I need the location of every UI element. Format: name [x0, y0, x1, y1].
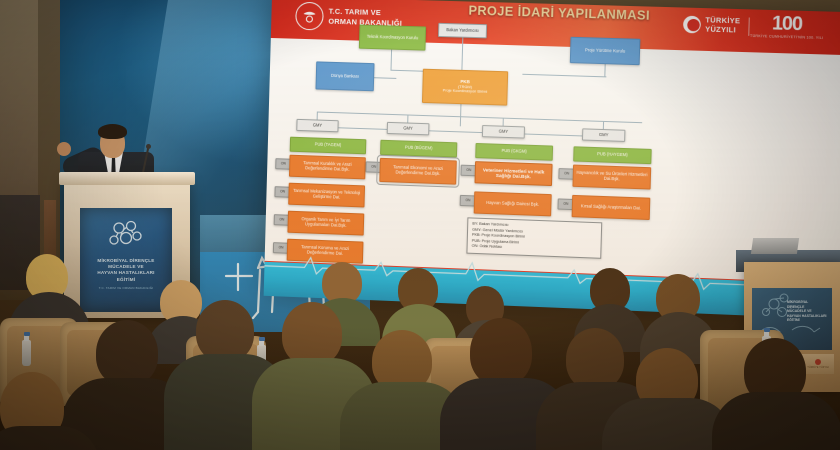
- node-c1-1[interactable]: Tarımsal Kuraklık ve Arazi Değerlendirme…: [289, 155, 366, 180]
- node-c1-2[interactable]: Tarımsal Mekanizasyon ve Teknoloji Geliş…: [288, 183, 365, 208]
- node-gmy-1[interactable]: GMY: [296, 119, 338, 132]
- node-c4-2[interactable]: Kırsal Sağlığı Araştırmaları Dai.: [572, 195, 651, 220]
- node-gmy-2[interactable]: GMY: [387, 122, 430, 135]
- podium-banner-subtitle: T.C. TARIM VE ORMAN BAKANLIĞI: [84, 286, 168, 290]
- water-bottle: [22, 340, 31, 366]
- podium-title-line-4: EĞİTİMİ: [84, 277, 168, 283]
- node-pub-3[interactable]: PUB (GKGM): [475, 143, 553, 161]
- node-pkb[interactable]: PKB (TRGM) Proje Koordinasyon Birimi: [422, 69, 508, 106]
- speaker-hair: [98, 124, 127, 139]
- yuzyili-line: YÜZYILI: [705, 25, 740, 35]
- node-c3-1-veterinary[interactable]: Veteriner Hizmetleri ve Halk Sağlığı Dai…: [474, 161, 552, 186]
- audience-head: [196, 300, 254, 362]
- right-footer-right-text: TÜRKİYE YÜZYILI: [807, 366, 829, 369]
- podium-banner-title: MİKROBİYAL DİRENÇLE MÜCADELE VE HAYVAN H…: [84, 258, 168, 283]
- node-c3-2[interactable]: Hayvan Sağlığı Dairesi Bşk.: [474, 191, 552, 216]
- legend-box: BY: Bakan Yardımcısı GMY: Genel Müdür Ya…: [466, 217, 602, 258]
- node-gmy-4[interactable]: GMY: [582, 128, 625, 142]
- node-steering-committee[interactable]: Teknik Koordinasyon Kurulu: [359, 25, 426, 51]
- node-world-bank[interactable]: Dünya Bankası: [315, 61, 374, 91]
- connector: [421, 130, 488, 133]
- right-banner-text: MİKROBİYAL DİRENÇLE MÜCADELE VE HAYVAN H…: [787, 300, 829, 323]
- node-gmy-3[interactable]: GMY: [482, 125, 525, 139]
- connector: [317, 112, 642, 124]
- right-banner-line-5: EĞİTİMİ: [787, 318, 829, 323]
- turkiye-yuzyili-logo: TÜRKİYE YÜZYILI: [683, 16, 740, 35]
- molecule-icon: [105, 218, 147, 252]
- podium-top: [59, 172, 195, 185]
- centenary-subtitle: TÜRKİYE CUMHURİYETİ'NİN 100. YILI: [750, 34, 823, 40]
- node-pkb-line3: Proje Koordinasyon Birimi: [443, 89, 487, 95]
- node-pub-1[interactable]: PUB (TAGEM): [290, 137, 367, 155]
- node-c1-3[interactable]: Organik Tarım ve İyi Tarım Uygulamaları …: [287, 211, 364, 236]
- crescent-icon: [815, 359, 821, 365]
- node-pub-2[interactable]: PUB (BÜGEM): [380, 140, 457, 158]
- audience-head: [96, 320, 158, 386]
- node-c4-1[interactable]: Hayvancılık ve Su Ürünleri Hizmetleri Da…: [572, 165, 651, 190]
- node-c2-1[interactable]: Tarımsal Ekonomi ve Arazi Değerlendirme …: [379, 158, 457, 185]
- node-project-steering[interactable]: Proje Yürütme Kurulu: [570, 37, 641, 65]
- microphone-icon: [146, 144, 151, 149]
- centenary-logo: 100 TÜRKİYE CUMHURİYETİ'NİN 100. YILI: [750, 13, 824, 40]
- connector: [330, 127, 392, 130]
- right-footer-right: TÜRKİYE YÜZYILI: [807, 359, 829, 369]
- connector: [517, 133, 589, 136]
- node-deputy-minister[interactable]: Bakan Yardımcısı: [438, 23, 487, 39]
- audience-shoulders: [712, 392, 840, 450]
- node-pub-4[interactable]: PUB (HAYGEM): [573, 146, 652, 164]
- audience-head: [282, 302, 342, 366]
- turkiye-yuzyili-text: TÜRKİYE YÜZYILI: [705, 16, 740, 35]
- podium-banner: MİKROBİYAL DİRENÇLE MÜCADELE VE HAYVAN H…: [80, 208, 172, 312]
- connector: [522, 74, 606, 78]
- audience-head: [470, 318, 532, 386]
- speaker-hand: [57, 142, 71, 156]
- laptop-icon: [751, 238, 799, 254]
- conference-photo-stage: T.C. TARIM VE ORMAN BAKANLIĞI PROJE İDAR…: [0, 0, 840, 450]
- centenary-number: 100: [750, 13, 824, 35]
- audience-head: [566, 328, 624, 390]
- crescent-icon: [683, 16, 701, 34]
